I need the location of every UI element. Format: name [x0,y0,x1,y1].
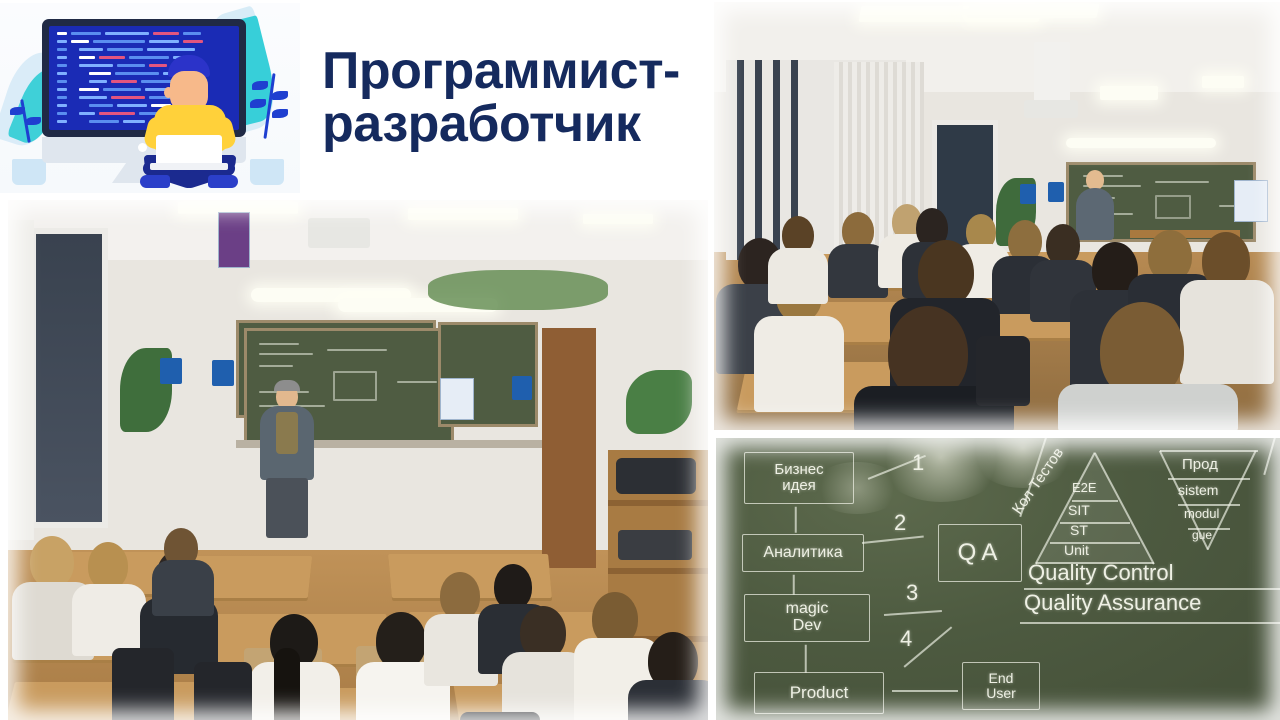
teacher-sweater [276,412,298,454]
inv-level-modul: modul [1184,506,1219,521]
board-lamp-2b [1066,138,1216,148]
wall-sign-2 [212,360,234,386]
shelf-items-mid [618,530,692,560]
code-line-5 [57,40,67,43]
ceiling-light-d [1202,76,1244,88]
pyramid-level-st: ST [1070,522,1088,538]
code-line-28 [89,80,107,83]
code-line-19 [57,64,67,67]
code-line-7 [93,40,145,43]
ceiling-light-b [967,4,1100,18]
student-torso-11 [628,680,708,720]
chalk-box-end-user: EndUser [962,662,1040,710]
backpack-3 [460,712,540,720]
arrow-product-to-enduser [892,690,958,692]
teacher-head-2 [1086,170,1104,190]
code-line-15 [79,56,95,59]
classroom-wide-photo [8,200,708,720]
chalk-label-qa: QA [958,540,1003,565]
code-line-11 [79,48,103,51]
chalk-box-business-idea: Бизнесидея [744,452,854,504]
pyramid-fill [1036,452,1154,564]
code-line-12 [107,48,143,51]
code-line-2 [105,32,149,35]
poster-canvas: Программист- разработчик [0,0,1280,720]
inv-level-gue: gue [1192,528,1212,542]
laptop-base [150,163,228,170]
code-line-23 [57,72,67,75]
classroom-students-photo [714,2,1280,430]
inverted-test-pyramid: Прод sistem modul gue [1160,448,1260,558]
code-line-3 [153,32,179,35]
plant-leaf-r2 [272,91,288,100]
arrow-idea-to-analytics [795,507,797,533]
projector [308,218,370,248]
ceiling-light-3 [583,214,653,224]
code-line-31 [57,88,67,91]
chalk-label-analytics: Аналитика [763,545,842,562]
blackboard-diagram-photo: Бизнесидея Аналитика magicDev Product QA… [716,438,1280,720]
character-ear [164,87,173,98]
inv-level-sistem: sistem [1178,482,1218,498]
teacher-trousers [266,478,308,538]
plant-pot-right [250,159,284,185]
pyramid-level-unit: Unit [1064,542,1089,558]
arrow-dev-to-product [805,645,807,673]
code-line-16 [99,56,125,59]
s2-torso-13 [1180,280,1274,384]
bookshelf-rail-1 [608,500,708,506]
wall-poster-1 [440,378,474,420]
code-line-14 [57,56,67,59]
chalk-arrow-number-4: 4 [900,626,912,652]
s2-head-10 [918,240,974,306]
code-line-24 [89,72,111,75]
hanging-vine [428,270,608,310]
wall-sign-1 [160,358,182,384]
code-line-4 [183,32,201,35]
code-line-20 [79,64,113,67]
chalk-box-product: Product [754,672,884,714]
character-shoe-left [140,175,170,188]
student-torso-2 [72,584,146,656]
curtain-left [8,220,34,540]
code-line-6 [71,40,89,43]
teacher-hair [274,380,300,391]
chalk-label-product: Product [790,684,849,702]
chalk-text-quality-assurance: Quality Assurance [1024,590,1201,616]
ceiling-light-c [1100,86,1158,100]
plant-leaf-l2 [26,117,41,125]
code-line-1 [71,32,101,35]
backpack2-1 [976,336,1030,406]
chalk-box-analytics: Аналитика [742,534,864,572]
shelf-plant [626,370,692,434]
chalk-label-business-idea: Бизнесидея [774,462,823,494]
code-line-27 [57,80,67,83]
arrow-analytics-to-dev [793,575,795,595]
inv-level-prod: Прод [1182,456,1218,473]
developer-illustration [0,3,300,193]
code-line-13 [147,48,195,51]
code-line-32 [79,88,99,91]
page-title: Программист- разработчик [300,45,710,151]
bookshelf-rail-2 [608,568,708,574]
chalk-box-qa: QA [938,524,1022,582]
wall-sign-2b [1048,182,1064,202]
student-head-2 [88,542,128,590]
code-line-47 [57,120,67,123]
classroom-students-scene [714,2,1280,430]
window-left [30,228,108,528]
code-line-44 [79,112,95,115]
laptop-icon [156,135,222,165]
classroom-wide-scene [8,200,708,720]
title-line-1: Программист- [322,45,702,98]
pyramid-level-sit: SIT [1068,502,1090,518]
code-line-8 [149,40,179,43]
wall-poster-2a [1234,180,1268,222]
projector-mount-2 [1034,42,1070,106]
pyramid-level-e2e: E2E [1072,480,1097,495]
chalk-arrow-number-3: 3 [906,580,918,606]
chalk-text-quality-control: Quality Control [1028,560,1174,586]
character-shoe-right [208,175,238,188]
code-line-40 [89,104,113,107]
projector-2 [1024,100,1078,118]
plant-leaf-l1 [10,107,25,115]
code-line-36 [79,96,107,99]
code-line-10 [57,48,67,51]
student-head-7 [440,572,480,620]
wall-sign-3 [512,376,532,400]
code-line-35 [57,96,67,99]
chalk-box-magic-dev: magicDev [744,594,870,642]
developer-character [134,55,254,189]
student-ponytail-5 [274,648,300,720]
student-torso-4 [152,560,214,616]
shelf-items-top [616,458,696,494]
backpack-4 [194,662,252,720]
ceiling-light-2 [408,208,518,220]
code-line-9 [183,40,203,43]
student-head-1 [30,536,74,588]
s2-torso-front-1 [1058,384,1238,430]
code-line-45 [99,112,135,115]
plant-leaf-r4 [272,109,288,118]
door [542,328,596,568]
s2-torso-3 [768,248,828,304]
title-line-2: разработчик [322,98,702,151]
code-line-39 [57,104,67,107]
chalk-arrow-number-2: 2 [894,510,906,536]
code-line-43 [57,112,67,115]
s2-torso-2 [754,316,844,412]
test-pyramid: E2E SIT ST Unit [1036,452,1154,564]
underline-quality-assurance [1020,622,1280,624]
code-line-48 [89,120,119,123]
chalk-label-magic-dev: magicDev [786,601,829,635]
chalk-arrow-number-1: 1 [912,450,924,476]
backpack-1 [112,648,174,720]
code-line-0 [57,32,67,35]
header-banner: Программист- разработчик [0,0,710,196]
plant-leaf-r1 [252,81,268,90]
inv-top [1160,450,1258,452]
chalk-label-end-user: EndUser [986,671,1016,700]
wall-poster-2 [218,212,250,268]
wall-sign-2a [1020,184,1036,204]
plant-pot-left [12,159,46,185]
inv-div-1 [1168,478,1250,480]
teacher-body-2 [1076,188,1114,240]
